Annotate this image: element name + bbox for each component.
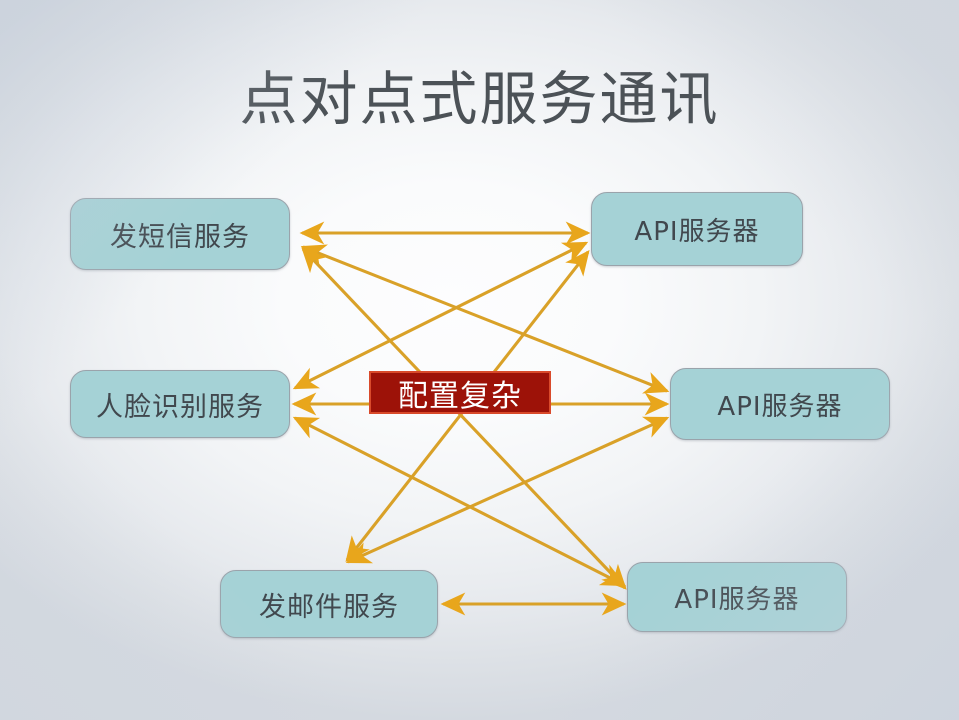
arrow-face-to-api-bot (295, 418, 624, 585)
service-node-label: 人脸识别服务 (96, 385, 264, 424)
arrow-sms-to-api-mid (303, 247, 667, 391)
service-node-label: 发短信服务 (110, 215, 250, 254)
arrow-sms-to-api-bot (303, 249, 625, 588)
slide-canvas: 点对点式服务通讯 发短信服务API服务器人脸识别服务API服务器发邮件服务API… (0, 0, 959, 720)
service-node-sms[interactable]: 发短信服务 (70, 198, 290, 270)
arrow-face-to-api-top (295, 243, 586, 388)
arrow-mail-to-api-mid (348, 418, 667, 562)
service-node-api-bot[interactable]: API服务器 (627, 562, 847, 632)
service-node-api-top[interactable]: API服务器 (591, 192, 803, 266)
service-node-face[interactable]: 人脸识别服务 (70, 370, 290, 438)
callout-label: 配置复杂 (398, 371, 522, 415)
callout-complex-config: 配置复杂 (369, 371, 551, 414)
service-node-label: API服务器 (674, 579, 799, 616)
service-node-mail[interactable]: 发邮件服务 (220, 570, 438, 638)
service-node-label: API服务器 (717, 386, 842, 423)
service-node-label: 发邮件服务 (259, 585, 399, 624)
service-node-label: API服务器 (634, 211, 759, 248)
service-node-api-mid[interactable]: API服务器 (670, 368, 890, 440)
